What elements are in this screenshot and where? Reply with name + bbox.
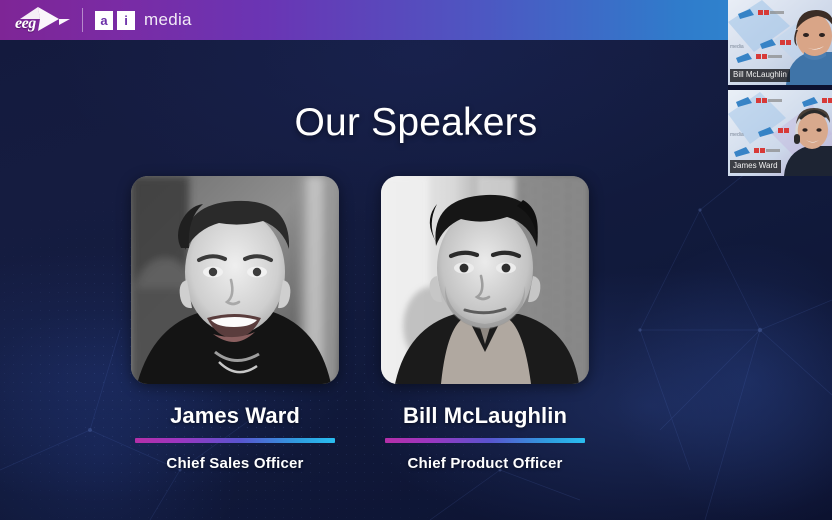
video-tile[interactable]: media James Ward [728, 90, 832, 176]
ai-media-wordmark: media [144, 10, 192, 30]
bill-mclaughlin-headshot-image [381, 176, 589, 384]
svg-text:media: media [730, 44, 744, 50]
video-tile[interactable]: media Bill McLaughlin [728, 0, 832, 85]
header-divider [82, 8, 83, 32]
slide-title: Our Speakers [0, 101, 832, 145]
speaker-accent-rule [385, 438, 585, 443]
eeg-wordmark: eeg [15, 15, 36, 33]
speaker-role: Chief Product Officer [407, 455, 562, 472]
ai-logo-letter-a: a [95, 11, 113, 30]
presentation-screen: eeg a i media Our Speakers [0, 0, 832, 520]
video-participants-panel: media Bill McLaughlin [728, 0, 832, 176]
svg-text:media: media [730, 132, 744, 138]
speakers-row: James Ward Chief Sales Officer [0, 176, 720, 472]
eeg-logo: eeg [14, 5, 72, 35]
speaker-card: Bill McLaughlin Chief Product Officer [381, 176, 589, 472]
speaker-name: Bill McLaughlin [403, 403, 567, 429]
video-participant-label: Bill McLaughlin [730, 69, 790, 82]
speaker-name: James Ward [170, 403, 300, 429]
speaker-role: Chief Sales Officer [166, 455, 303, 472]
speaker-photo [131, 176, 339, 384]
ai-media-logo: a i media [95, 10, 192, 30]
video-participant-label: James Ward [730, 160, 781, 173]
speaker-photo [381, 176, 589, 384]
james-ward-headshot-image [131, 176, 339, 384]
speaker-card: James Ward Chief Sales Officer [131, 176, 339, 472]
ai-logo-letter-i: i [117, 11, 135, 30]
speaker-accent-rule [135, 438, 335, 443]
brand-header-bar: eeg a i media [0, 0, 832, 40]
